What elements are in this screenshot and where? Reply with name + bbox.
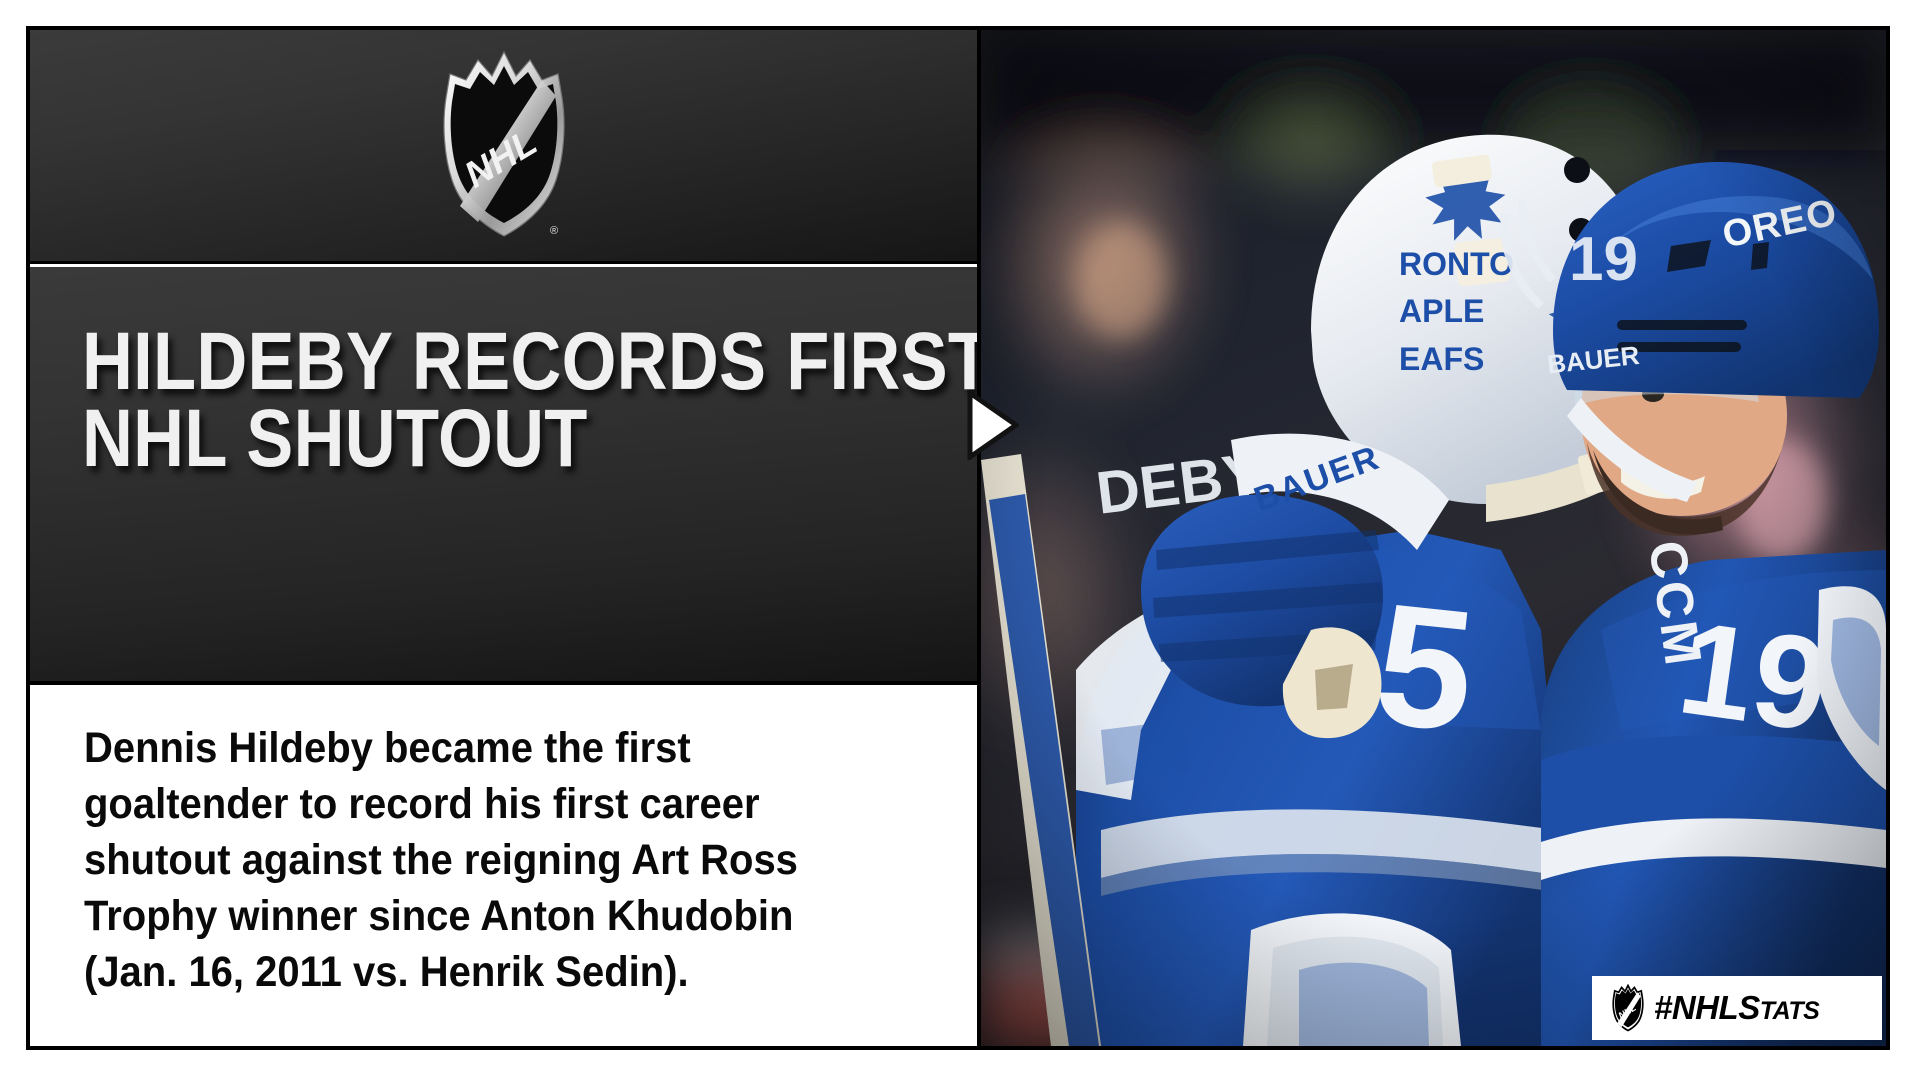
- body-band: Dennis Hildeby became the first goaltend…: [30, 689, 977, 1046]
- body-line-3: shutout against the reigning Art Ross: [84, 833, 884, 889]
- logo-band: NHL ®: [30, 30, 977, 264]
- body-line-5: (Jan. 16, 2011 vs. Henrik Sedin).: [84, 945, 884, 1001]
- badge-stats-s: S: [1738, 989, 1760, 1026]
- left-text-column: NHL ® HILDEBY RECORDS FIRST NHL SHUTOUT …: [30, 30, 977, 1046]
- body-line-2: goaltender to record his first career: [84, 777, 884, 833]
- screenshot-canvas: NHL ® HILDEBY RECORDS FIRST NHL SHUTOUT …: [0, 0, 1920, 1080]
- page-title: HILDEBY RECORDS FIRST NHL SHUTOUT: [82, 323, 822, 477]
- celebration-photo: 35 DEBY: [981, 30, 1886, 1046]
- body-paragraph: Dennis Hildeby became the first goaltend…: [84, 721, 884, 1000]
- headline-line-1: HILDEBY RECORDS FIRST: [82, 323, 822, 400]
- badge-stats-rest: TATS: [1760, 997, 1820, 1025]
- body-line-1: Dennis Hildeby became the first: [84, 721, 884, 777]
- headline-band: HILDEBY RECORDS FIRST NHL SHUTOUT: [30, 267, 977, 685]
- body-line-4: Trophy winner since Anton Khudobin: [84, 889, 884, 945]
- headline-line-2: NHL SHUTOUT: [82, 400, 822, 477]
- photo-illustration: 35 DEBY: [981, 30, 1886, 1046]
- play-triangle-icon: [967, 390, 1019, 460]
- svg-text:®: ®: [550, 225, 558, 237]
- nhl-shield-logo: NHL ®: [438, 46, 570, 242]
- nhl-stats-graphic-card: NHL ® HILDEBY RECORDS FIRST NHL SHUTOUT …: [26, 26, 1890, 1050]
- nhl-stats-badge: NHL #NHLSTATS: [1592, 976, 1882, 1040]
- badge-text: #NHLSTATS: [1654, 989, 1819, 1027]
- nhl-shield-logo-small: NHL: [1608, 984, 1648, 1032]
- badge-hash-text: #NHL: [1654, 989, 1738, 1026]
